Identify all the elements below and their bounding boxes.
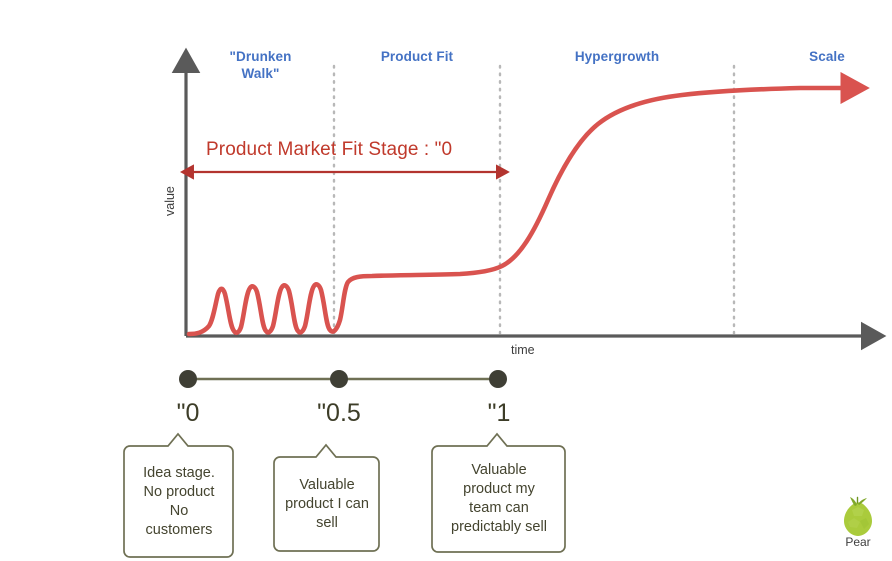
stage-header-scale: Scale: [772, 48, 882, 65]
callout-valuable-product-team: Valuable product my team can predictably…: [432, 446, 566, 552]
milestone-label-1: "1: [460, 399, 538, 427]
growth-curve: [189, 88, 845, 334]
stage-header-product-fit: Product Fit: [358, 48, 476, 65]
milestone-dot-1[interactable]: [489, 370, 507, 388]
stage-header-drunken-walk: "Drunken Walk": [203, 48, 318, 82]
callout-valuable-product-i-can-sell-text: Valuable product I can sell: [280, 476, 374, 533]
callout-idea-stage: Idea stage. No product No customers: [124, 446, 234, 557]
callout-idea-stage-text: Idea stage. No product No customers: [130, 464, 228, 540]
stage-header-hypergrowth: Hypergrowth: [556, 48, 678, 65]
y-axis-label: value: [163, 186, 178, 216]
brand-name: Pear: [828, 535, 888, 549]
x-axis-label: time: [511, 343, 535, 358]
milestone-label-0: "0: [148, 399, 228, 427]
milestone-label-05: "0.5: [297, 399, 381, 427]
pear-logo-icon: [844, 497, 872, 536]
brand-pear: Pear: [828, 534, 888, 549]
milestone-dot-05[interactable]: [330, 370, 348, 388]
slide-canvas: "Drunken Walk" Product Fit Hypergrowth S…: [0, 0, 892, 561]
pmf-stage-annotation: Product Market Fit Stage : "0: [206, 138, 452, 161]
callout-valuable-product-i-can-sell: Valuable product I can sell: [274, 457, 380, 551]
callout-valuable-product-team-text: Valuable product my team can predictably…: [438, 461, 560, 537]
milestone-dot-0[interactable]: [179, 370, 197, 388]
